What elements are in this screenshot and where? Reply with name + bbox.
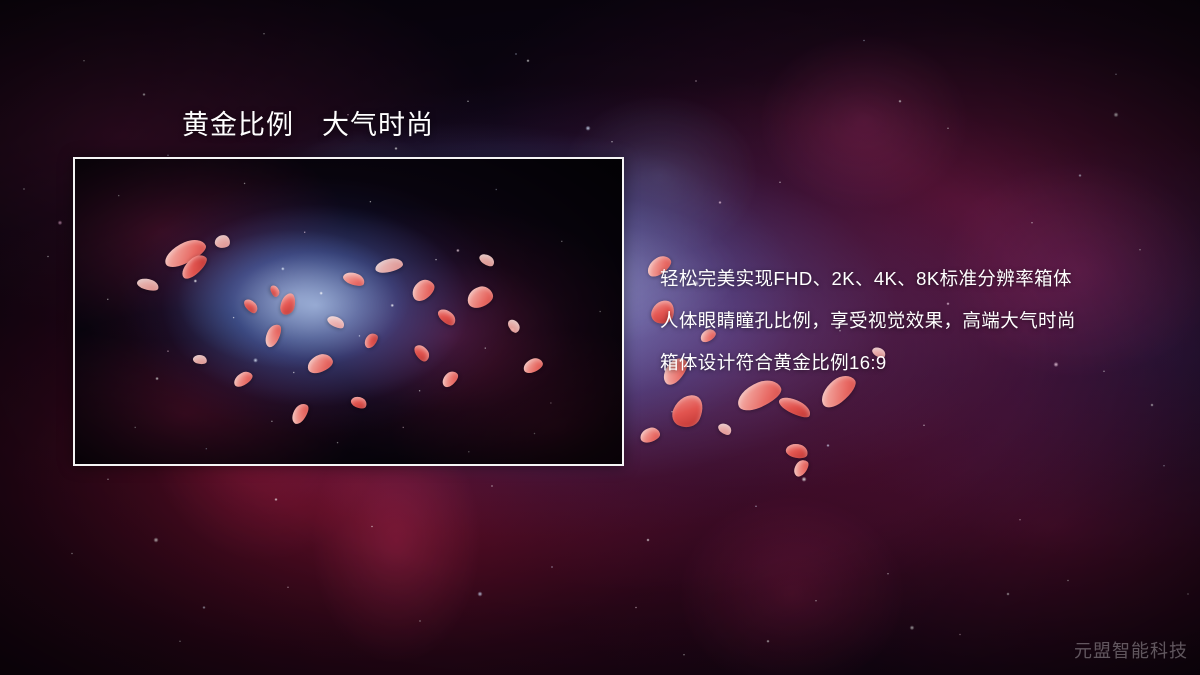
- preview-image: [75, 159, 622, 464]
- slide-title: 黄金比例 大气时尚: [182, 103, 434, 142]
- preview-frame: [73, 157, 624, 466]
- body-line: 人体眼睛瞳孔比例，享受视觉效果，高端大气时尚: [660, 300, 1160, 342]
- body-copy: 轻松完美实现FHD、2K、4K、8K标准分辨率箱体 人体眼睛瞳孔比例，享受视觉效…: [660, 258, 1160, 384]
- body-line: 箱体设计符合黄金比例16:9: [660, 342, 1160, 384]
- watermark: 元盟智能科技: [1074, 637, 1188, 663]
- slide-canvas: 黄金比例 大气时尚: [0, 0, 1200, 675]
- preview-vignette: [75, 159, 622, 464]
- body-line: 轻松完美实现FHD、2K、4K、8K标准分辨率箱体: [660, 258, 1160, 300]
